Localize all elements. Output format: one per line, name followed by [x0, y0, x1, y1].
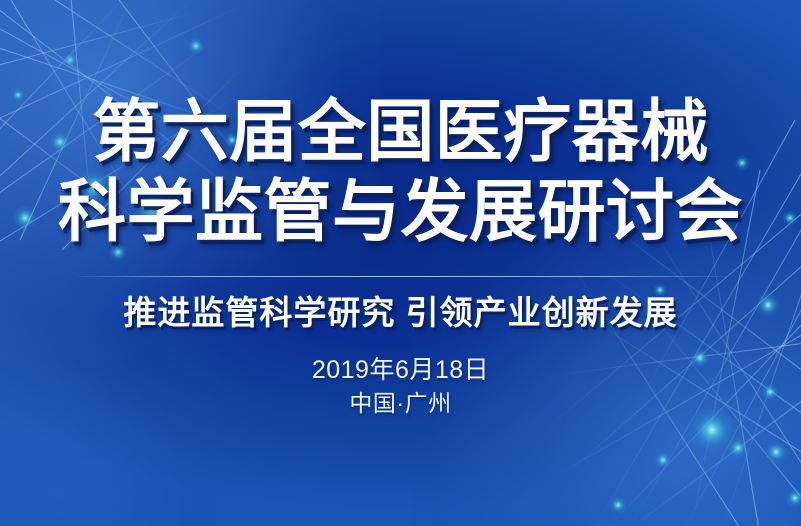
- page-title-line-2: 科学监管与发展研讨会: [0, 178, 801, 246]
- event-date: 2019年6月18日: [0, 358, 801, 383]
- page-title-line-1: 第六届全国医疗器械: [0, 98, 801, 166]
- event-location: 中国·广州: [0, 392, 801, 415]
- banner-content: 第六届全国医疗器械 科学监管与发展研讨会 推进监管科学研究 引领产业创新发展 2…: [0, 0, 801, 526]
- banner-subtitle: 推进监管科学研究 引领产业创新发展: [0, 296, 801, 329]
- conference-banner: 第六届全国医疗器械 科学监管与发展研讨会 推进监管科学研究 引领产业创新发展 2…: [0, 0, 801, 526]
